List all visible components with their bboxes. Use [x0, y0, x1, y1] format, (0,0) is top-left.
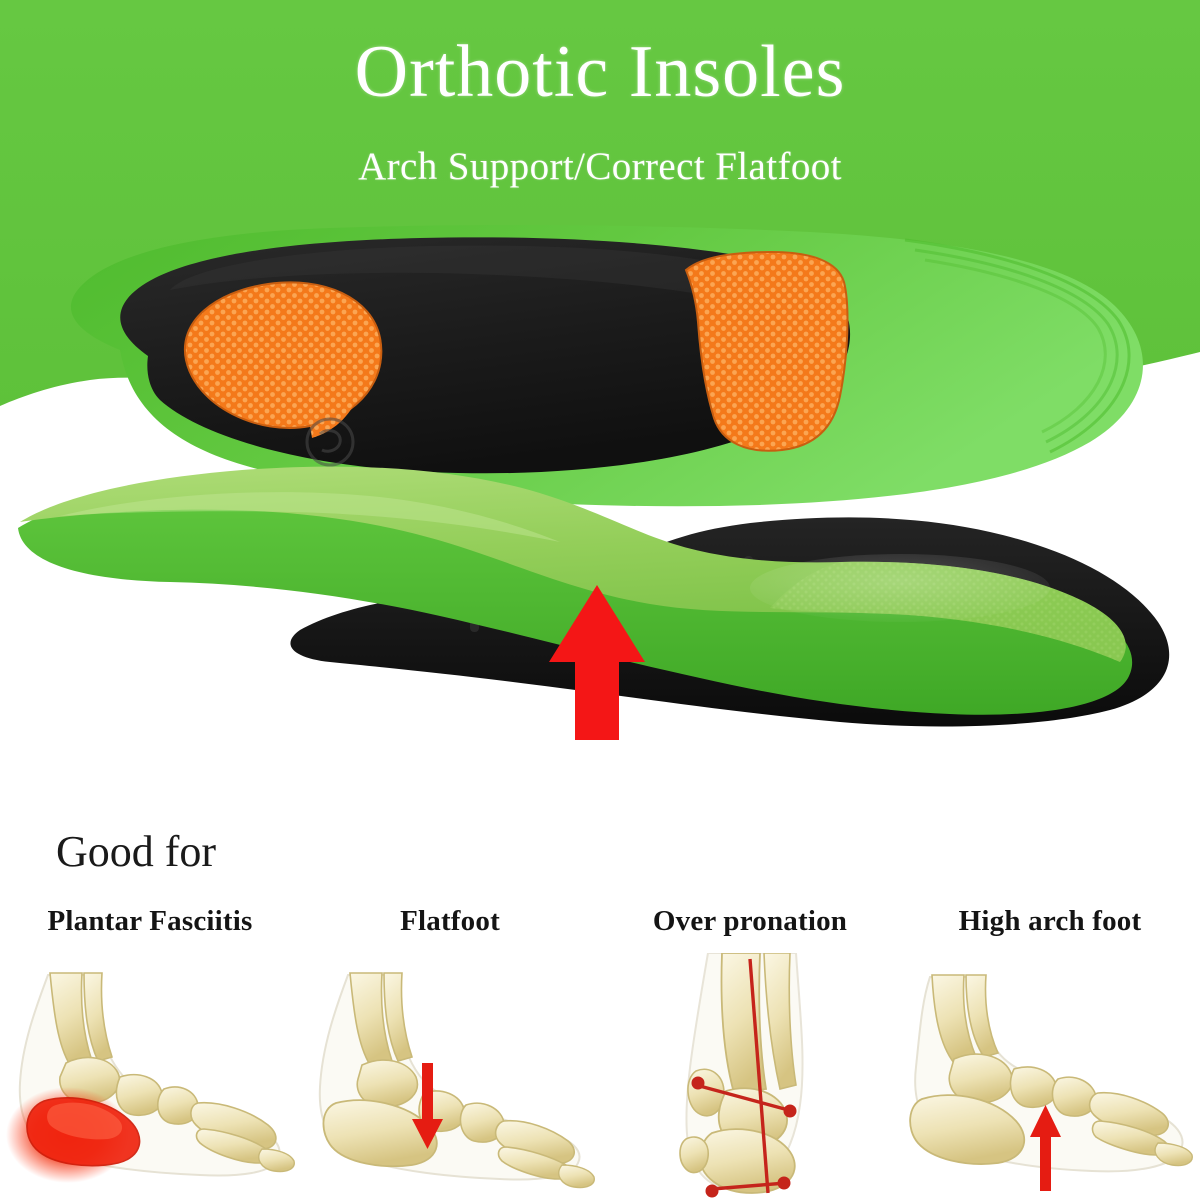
ankle-skeleton-rear-icon [600, 953, 900, 1200]
foot-skeleton-side-icon [900, 953, 1200, 1200]
foot-skeleton-side-icon [300, 953, 600, 1200]
page-title: Orthotic Insoles [0, 34, 1200, 112]
insole-top-view [71, 225, 1143, 506]
condition-card-plantar-fasciitis[interactable]: Plantar Fasciitis [0, 905, 300, 1200]
condition-label: High arch foot [900, 905, 1200, 938]
condition-label: Plantar Fasciitis [0, 905, 300, 938]
condition-card-list: Plantar Fasciitis [0, 905, 1200, 1200]
condition-label: Over pronation [600, 905, 900, 938]
product-photo [0, 210, 1200, 810]
condition-card-flatfoot[interactable]: Flatfoot [300, 905, 600, 1200]
good-for-heading: Good for [56, 826, 216, 877]
foot-skeleton-side-icon [0, 953, 300, 1200]
condition-label: Flatfoot [300, 905, 600, 938]
infographic-page: Orthotic Insoles Arch Support/Correct Fl… [0, 0, 1200, 1200]
page-subtitle: Arch Support/Correct Flatfoot [0, 146, 1200, 189]
condition-card-high-arch-foot[interactable]: High arch foot [900, 905, 1200, 1200]
condition-card-over-pronation[interactable]: Over pronation [600, 905, 900, 1200]
